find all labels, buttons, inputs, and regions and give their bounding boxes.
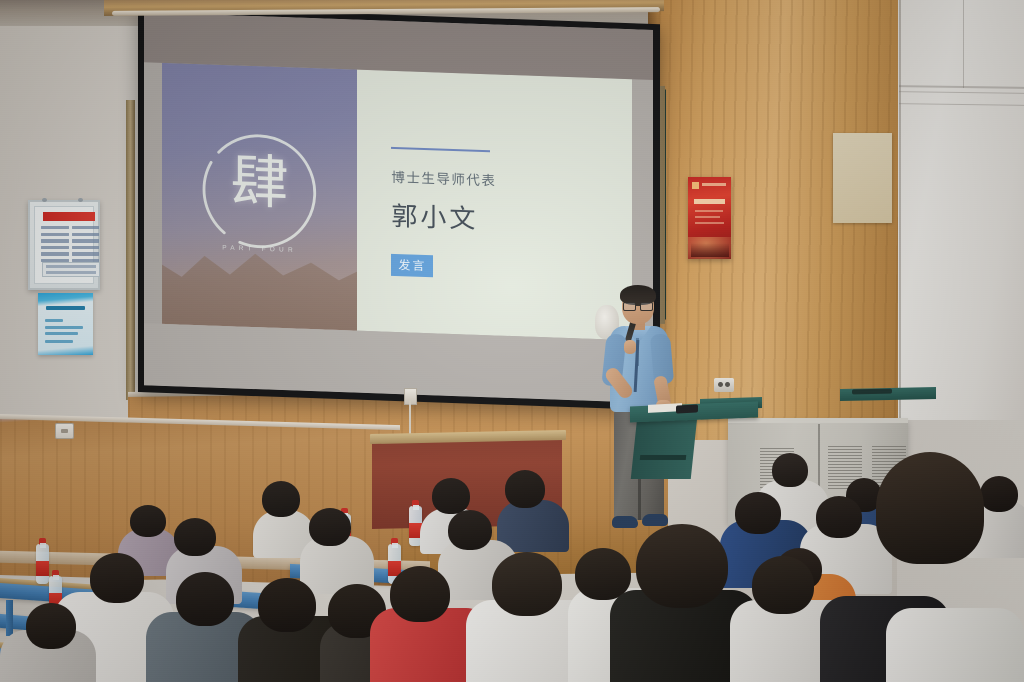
presenter-shoe: [612, 516, 638, 528]
lectern-body: [631, 417, 698, 479]
audience-head: [492, 552, 562, 616]
notice-footer: [42, 262, 100, 277]
notice-row: [41, 239, 99, 242]
audience-head: [816, 496, 862, 538]
cabinet-top: [728, 418, 908, 423]
notice-row: [41, 252, 99, 255]
lecture-hall-photo: 肆 PART FOUR 博士生导师代表 郭小文 发言: [0, 0, 1024, 682]
notice-pins: [28, 198, 100, 204]
audience-torso: [886, 608, 1024, 682]
notice-rows: [41, 226, 99, 265]
wall-seam: [963, 0, 964, 88]
slide-left-panel: 肆 PART FOUR: [162, 63, 357, 331]
audience-head: [390, 566, 450, 622]
slide-action-tag: 发言: [391, 254, 433, 277]
poster-line: [695, 210, 723, 212]
audience-head: [980, 476, 1018, 512]
audience-head: [735, 492, 781, 534]
audience-head: [174, 518, 216, 556]
slide-section-number: 肆: [231, 154, 289, 214]
screen-surface: 肆 PART FOUR 博士生导师代表 郭小文 发言: [144, 12, 653, 403]
blue-information-sheet: [38, 293, 93, 355]
audience-head: [176, 572, 234, 626]
projected-slide: 肆 PART FOUR 博士生导师代表 郭小文 发言: [162, 63, 632, 340]
poster-top-text: [702, 183, 726, 186]
notice-row: [41, 233, 99, 236]
desk-leg: [6, 600, 13, 636]
audience-head: [636, 524, 728, 608]
notice-red-header: [43, 212, 95, 221]
audience-head: [262, 481, 300, 517]
blank-beige-board: [833, 133, 892, 223]
slide-role-line: 博士生导师代表: [391, 166, 496, 190]
audience-head: [876, 452, 984, 564]
audience-head: [772, 453, 808, 487]
shelf-equipment: [852, 389, 892, 395]
water-bottle: [36, 544, 49, 584]
glasses-icon: [623, 302, 653, 309]
projection-screen: 肆 PART FOUR 博士生导师代表 郭小文 发言: [138, 6, 660, 410]
framed-notice-board: [28, 200, 100, 290]
presenter-shoe: [642, 514, 668, 526]
audience-head: [130, 505, 166, 537]
blackboard-frame-left: [126, 100, 135, 400]
audience-head: [448, 510, 492, 550]
wall-control-box: [714, 378, 734, 392]
right-white-wall: [896, 0, 1024, 470]
slide-accent-rule: [391, 147, 490, 153]
poster-silhouette: [691, 243, 729, 257]
presenter-hand-left: [624, 340, 636, 354]
red-propaganda-poster: [688, 177, 731, 259]
notice-row: [41, 246, 99, 249]
audience-torso: [497, 500, 569, 552]
lectern-device: [676, 404, 698, 413]
lectern-slot: [640, 455, 687, 460]
poster-headline: [694, 199, 725, 204]
audience-head: [258, 578, 316, 632]
audience-head: [90, 553, 144, 603]
wall-outlet: [55, 423, 74, 439]
audience-head: [505, 470, 545, 508]
poster-line: [695, 222, 724, 224]
audience-head: [752, 556, 814, 614]
slide-right-panel: 博士生导师代表 郭小文 发言: [357, 70, 632, 341]
notice-sheet: [34, 206, 94, 284]
poster-line: [695, 216, 720, 218]
poster-emblem-icon: [692, 182, 699, 189]
audience-head: [26, 603, 76, 649]
notice-row: [41, 226, 99, 229]
audience-head: [309, 508, 351, 546]
audience-head: [432, 478, 470, 514]
slide-speaker-name: 郭小文: [391, 196, 478, 236]
